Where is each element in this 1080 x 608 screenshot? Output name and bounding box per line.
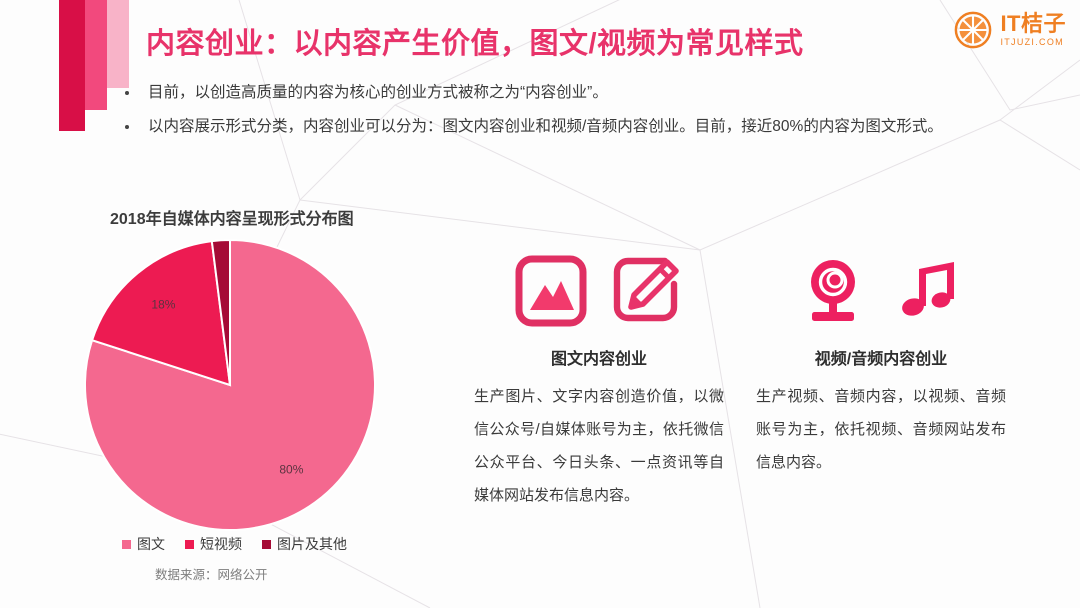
legend-swatch — [122, 540, 131, 549]
column-heading: 图文内容创业 — [474, 345, 724, 369]
logo-name: IT桔子 — [1000, 13, 1066, 35]
column-icon-row — [756, 236, 1006, 328]
chart-legend: 图文 短视频 图片及其他 — [122, 534, 347, 554]
legend-label: 短视频 — [200, 534, 242, 554]
legend-item: 图片及其他 — [262, 534, 347, 554]
music-note-icon — [892, 254, 966, 328]
decor-bar-mid — [85, 0, 107, 110]
decor-bar-dark — [59, 0, 85, 131]
image-icon — [514, 254, 588, 328]
pie-slice-label: 80% — [279, 462, 303, 476]
column-video-audio-content: 视频/音频内容创业 生产视频、音频内容，以视频、音频账号为主，依托视频、音频网站… — [756, 236, 1006, 479]
legend-swatch — [262, 540, 271, 549]
decor-bar-light — [107, 0, 129, 88]
logo-domain: ITJUZI.COM — [1000, 38, 1066, 47]
column-icon-row — [474, 236, 724, 328]
chart-source-note: 数据来源：网络公开 — [155, 564, 268, 583]
bullet-dot-icon — [125, 91, 129, 95]
legend-item: 短视频 — [185, 534, 242, 554]
pie-chart: 80%18% — [78, 233, 382, 537]
bullet-list: 目前，以创造高质量的内容为核心的创业方式被称之为“内容创业”。 以内容展示形式分… — [116, 78, 1016, 146]
logo-text-group: IT桔子 ITJUZI.COM — [1000, 13, 1066, 47]
pie-chart-svg: 80%18% — [78, 233, 382, 537]
bullet-item: 以内容展示形式分类，内容创业可以分为：图文内容创业和视频/音频内容创业。目前，接… — [116, 112, 1016, 142]
pie-slice-group — [85, 240, 375, 530]
pie-slice-label: 18% — [151, 298, 175, 312]
chart-title: 2018年自媒体内容呈现形式分布图 — [110, 205, 354, 229]
orange-slice-icon — [954, 11, 992, 49]
bullet-text: 以内容展示形式分类，内容创业可以分为：图文内容创业和视频/音频内容创业。目前，接… — [148, 118, 943, 135]
column-text-content: 图文内容创业 生产图片、文字内容创造价值，以微信公众号/自媒体账号为主，依托微信… — [474, 236, 724, 512]
page-title: 内容创业：以内容产生价值，图文/视频为常见样式 — [146, 20, 804, 62]
bullet-text: 目前，以创造高质量的内容为核心的创业方式被称之为“内容创业”。 — [148, 84, 608, 101]
bullet-item: 目前，以创造高质量的内容为核心的创业方式被称之为“内容创业”。 — [116, 78, 1016, 108]
legend-label: 图文 — [137, 534, 165, 554]
legend-label: 图片及其他 — [277, 534, 347, 554]
pencil-icon — [610, 254, 684, 328]
webcam-icon — [796, 254, 870, 328]
legend-swatch — [185, 540, 194, 549]
slide-canvas: 内容创业：以内容产生价值，图文/视频为常见样式 IT桔子 ITJUZI.COM — [0, 0, 1080, 608]
legend-item: 图文 — [122, 534, 165, 554]
column-body-text: 生产图片、文字内容创造价值，以微信公众号/自媒体账号为主，依托微信公众平台、今日… — [474, 380, 724, 512]
bullet-dot-icon — [125, 125, 129, 129]
column-heading: 视频/音频内容创业 — [756, 345, 1006, 369]
column-body-text: 生产视频、音频内容，以视频、音频账号为主，依托视频、音频网站发布信息内容。 — [756, 380, 1006, 479]
brand-logo: IT桔子 ITJUZI.COM — [954, 11, 1066, 49]
